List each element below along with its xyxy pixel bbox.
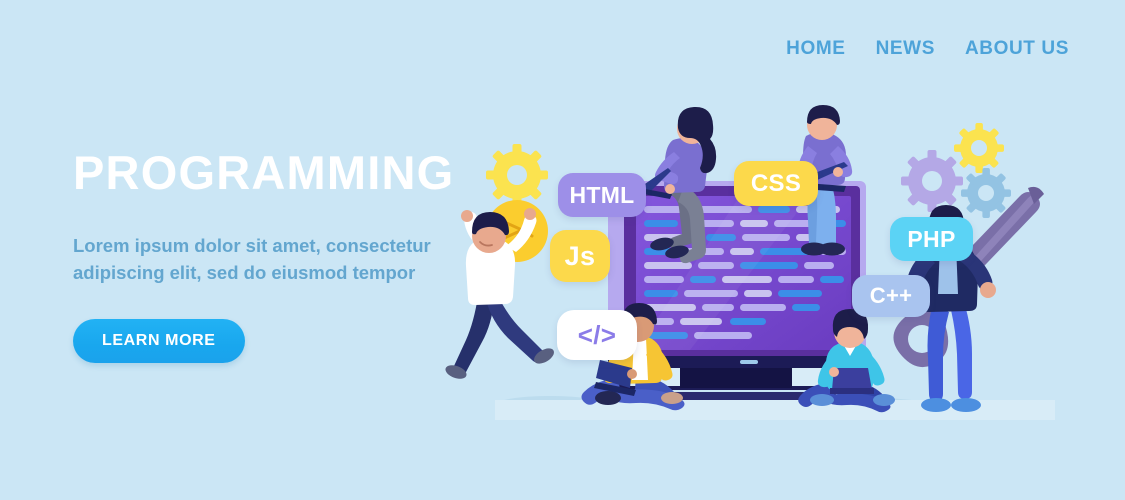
badge-php[interactable]: PHP [890, 217, 973, 261]
hero-copy-block: PROGRAMMING Lorem ipsum dolor sit amet, … [73, 148, 453, 363]
badge-js[interactable]: Js [550, 230, 610, 282]
landing-page: HOME NEWS ABOUT US PROGRAMMING Lorem ips… [0, 0, 1125, 500]
gear-blue-right-icon [961, 168, 1011, 218]
hero-subcopy: Lorem ipsum dolor sit amet, consectetur … [73, 233, 438, 287]
illustration-scene: HTML Js </> CSS PHP C++ [440, 0, 1125, 500]
badge-css[interactable]: CSS [734, 161, 818, 206]
page-title: PROGRAMMING [73, 148, 453, 197]
badge-html[interactable]: HTML [558, 173, 646, 217]
gear-yellow-left-icon [486, 144, 548, 206]
gear-purple-right-icon [901, 150, 963, 212]
badge-cpp[interactable]: C++ [852, 275, 930, 317]
character-lightbulb-man [444, 200, 557, 381]
learn-more-button[interactable]: LEARN MORE [73, 319, 245, 363]
gear-yellow-right-icon [954, 123, 1004, 173]
badge-code[interactable]: </> [557, 310, 637, 360]
